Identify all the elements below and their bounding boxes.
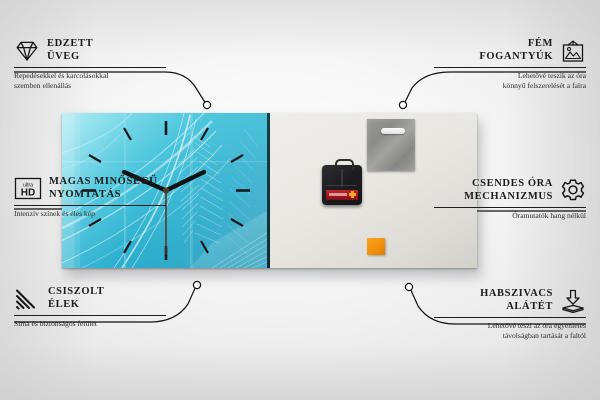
callout-subtitle: Lehetővé teszi az óra egyenletes távolsá… bbox=[434, 321, 586, 340]
callout-fem-fogantyuk: FÉM FOGANTYÚK Lehetővé teszik az óra kön… bbox=[434, 38, 586, 90]
diamond-icon bbox=[14, 39, 40, 63]
callout-rule bbox=[14, 67, 166, 68]
callout-edzett-uveg: EDZETT ÜVEG Repedésekkel és karcolásokka… bbox=[14, 38, 166, 90]
callout-csiszolt-elek: CSISZOLT ÉLEK Sima és biztonságos felüle… bbox=[14, 286, 166, 329]
callout-rule bbox=[434, 207, 586, 208]
callout-title: HABSZIVACS ALÁTÉT bbox=[480, 288, 553, 313]
callout-csendes-ora-mechanizmus: CSENDES ÓRA MECHANIZMUS Óramutatók hang … bbox=[434, 178, 586, 221]
callout-rule bbox=[14, 315, 166, 316]
battery bbox=[326, 190, 358, 200]
callout-title: EDZETT ÜVEG bbox=[47, 38, 93, 63]
ultra-hd-icon: ultra HD bbox=[14, 177, 42, 200]
callout-title: MAGAS MINŐSÉGŰ NYOMTATÁS bbox=[49, 176, 157, 201]
callout-habszivacs-alatet: HABSZIVACS ALÁTÉT Lehetővé teszi az óra … bbox=[434, 288, 586, 340]
polished-edges-icon bbox=[14, 288, 41, 310]
callout-rule bbox=[434, 317, 586, 318]
callout-subtitle: Sima és biztonságos felület bbox=[14, 319, 166, 329]
wall-mount-icon bbox=[560, 39, 586, 63]
callout-subtitle: Repedésekkel és karcolásokkal szemben el… bbox=[14, 71, 166, 90]
callout-subtitle: Óramutatók hang nélkül bbox=[434, 211, 586, 221]
gear-icon bbox=[560, 178, 586, 203]
battery-label bbox=[329, 193, 347, 196]
hanger-keyhole-slot bbox=[381, 128, 405, 134]
callout-rule bbox=[14, 205, 166, 206]
callout-magas-minosegu-nyomtatas: ultra HD MAGAS MINŐSÉGŰ NYOMTATÁS Intenz… bbox=[14, 176, 166, 219]
callout-title: CSENDES ÓRA MECHANIZMUS bbox=[464, 178, 553, 203]
infographic-canvas: EDZETT ÜVEG Repedésekkel és karcolásokka… bbox=[0, 0, 600, 400]
metal-hanger-plate bbox=[367, 119, 415, 171]
battery-plus-icon bbox=[349, 191, 356, 198]
mechanism-hanger-loop bbox=[335, 159, 354, 170]
foam-pad bbox=[367, 238, 385, 255]
callout-subtitle: Intenzív színek és éles kép bbox=[14, 209, 166, 219]
foam-pad-icon bbox=[560, 289, 586, 313]
callout-rule bbox=[434, 67, 586, 68]
callout-subtitle: Lehetővé teszik az óra könnyű felszerelé… bbox=[434, 71, 586, 90]
callout-title: FÉM FOGANTYÚK bbox=[479, 38, 553, 63]
svg-text:HD: HD bbox=[21, 188, 35, 199]
mechanism-seam-horizontal bbox=[326, 185, 357, 186]
clock-mechanism bbox=[322, 165, 362, 205]
callout-title: CSISZOLT ÉLEK bbox=[48, 286, 104, 311]
